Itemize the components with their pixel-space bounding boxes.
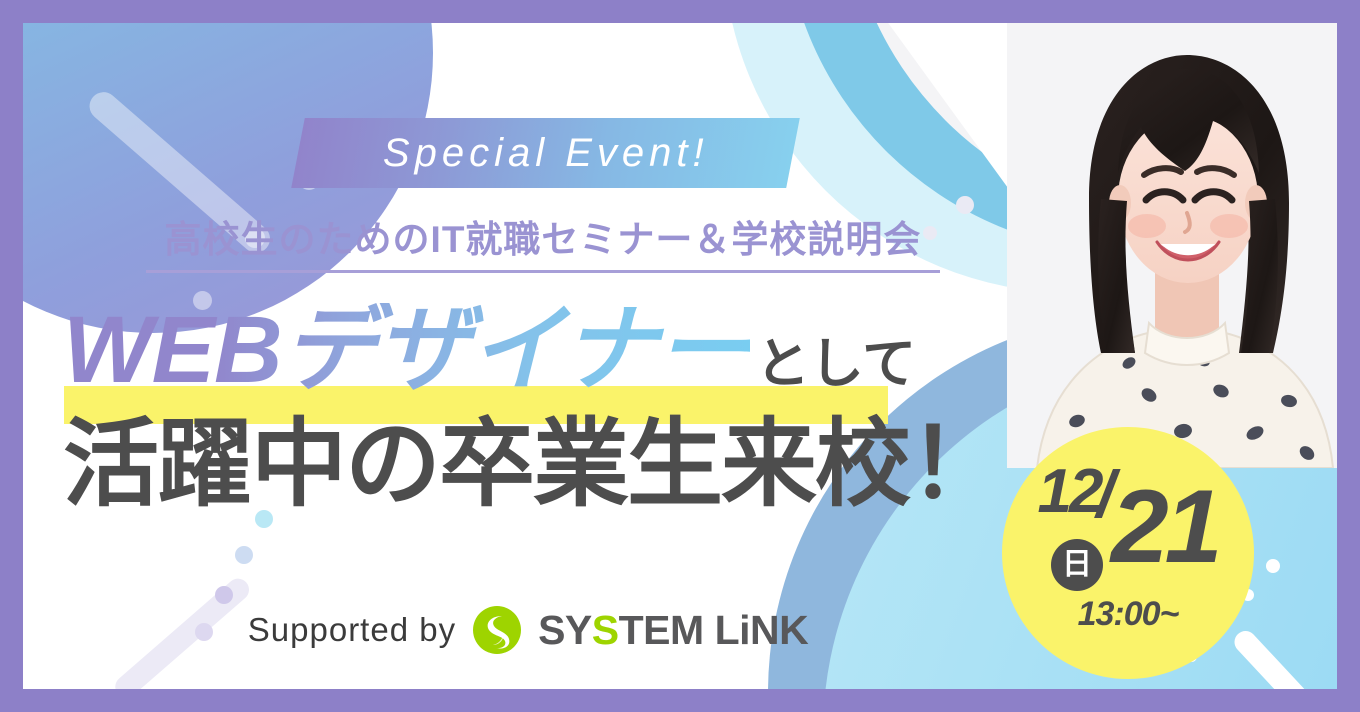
date-month: 12: [1038, 463, 1101, 522]
event-banner: Special Event! 高校生のためのIT就職セミナー＆学校説明会 WEB…: [0, 0, 1360, 712]
supported-by-label: Supported by: [248, 611, 456, 649]
presenter-photo: [1007, 23, 1337, 468]
special-event-label: Special Event!: [383, 131, 709, 176]
weekday-label: 日: [1062, 550, 1092, 580]
wordmark-part-1: SY: [538, 607, 592, 653]
wordmark-accent: S: [592, 607, 619, 653]
subtitle-underline: [146, 270, 940, 273]
headline-suffix-text: として: [756, 319, 916, 398]
presenter-photo-illustration: [1007, 23, 1337, 468]
decorative-dot: [1266, 559, 1280, 573]
weekday-chip: 日: [1051, 539, 1103, 591]
supported-by-row: Supported by SYSTEM LiNK: [23, 605, 1033, 655]
wordmark-part-3: TEM LiNK: [619, 607, 809, 653]
start-time: 13:00~: [1002, 595, 1254, 634]
special-event-ribbon: Special Event!: [291, 118, 800, 188]
date-badge: 12 / 21 日 13:00~: [1002, 427, 1254, 679]
system-link-swirl-icon: [472, 605, 522, 655]
headline-line-2: 活躍中の卒業生来校！: [23, 415, 1023, 516]
headline-line-1: WEBデザイナー として: [23, 303, 1023, 411]
date-day: 21: [1111, 481, 1219, 575]
date-row: 12 / 21: [1002, 463, 1254, 575]
banner-stage: Special Event! 高校生のためのIT就職セミナー＆学校説明会 WEB…: [23, 23, 1337, 689]
headline-line-2-text: 活躍中の卒業生来校！: [63, 411, 1003, 518]
decorative-dot: [215, 586, 233, 604]
decorative-dot: [956, 196, 974, 214]
headline-main-text: WEBデザイナー: [63, 303, 750, 398]
bottom-right-streak: [1230, 626, 1337, 689]
seminar-subtitle-text: 高校生のためのIT就職セミナー＆学校説明会: [165, 219, 922, 260]
headline-block: WEBデザイナー として 活躍中の卒業生来校！: [23, 303, 1023, 516]
seminar-subtitle: 高校生のためのIT就職セミナー＆学校説明会: [146, 209, 940, 263]
system-link-wordmark: SYSTEM LiNK: [538, 607, 808, 654]
decorative-dot: [235, 546, 253, 564]
